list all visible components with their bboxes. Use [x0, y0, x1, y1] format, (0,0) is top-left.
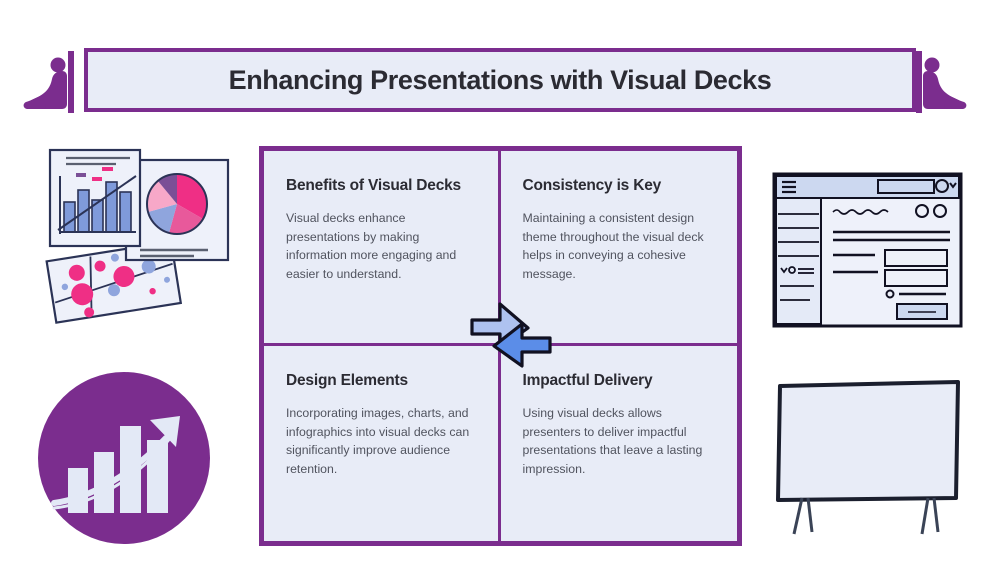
bar-chart-card-icon [50, 150, 140, 246]
person-sitting-silhouette-icon-right [896, 45, 968, 117]
quadrant-title: Consistency is Key [523, 177, 716, 195]
quadrant-cell-benefits[interactable]: Benefits of Visual Decks Visual decks en… [264, 151, 501, 346]
quadrant-body: Incorporating images, charts, and infogr… [286, 404, 476, 479]
quadrant-title: Benefits of Visual Decks [286, 177, 476, 195]
title-banner: Enhancing Presentations with Visual Deck… [84, 48, 916, 112]
quadrant-body: Using visual decks allows presenters to … [523, 404, 716, 479]
quadrant-body: Visual decks enhance presentations by ma… [286, 209, 476, 284]
quadrant-cell-design-elements[interactable]: Design Elements Incorporating images, ch… [264, 346, 501, 541]
title-banner-frame: Enhancing Presentations with Visual Deck… [84, 48, 916, 112]
growth-bar-chart-icon [38, 372, 210, 544]
page-title: Enhancing Presentations with Visual Deck… [229, 65, 772, 96]
presentation-screen-icon [772, 374, 964, 542]
quadrant-title: Impactful Delivery [523, 372, 716, 390]
browser-dashboard-wireframe-icon [770, 170, 965, 330]
quadrant-cell-impactful-delivery[interactable]: Impactful Delivery Using visual decks al… [501, 346, 738, 541]
chart-cards-illustration [36, 146, 248, 326]
quadrant-title: Design Elements [286, 372, 476, 390]
slide-canvas: Enhancing Presentations with Visual Deck… [0, 0, 1000, 563]
double-arrow-icon [470, 298, 552, 370]
pie-chart-card-icon [126, 160, 228, 260]
quadrant-body: Maintaining a consistent design theme th… [523, 209, 716, 284]
